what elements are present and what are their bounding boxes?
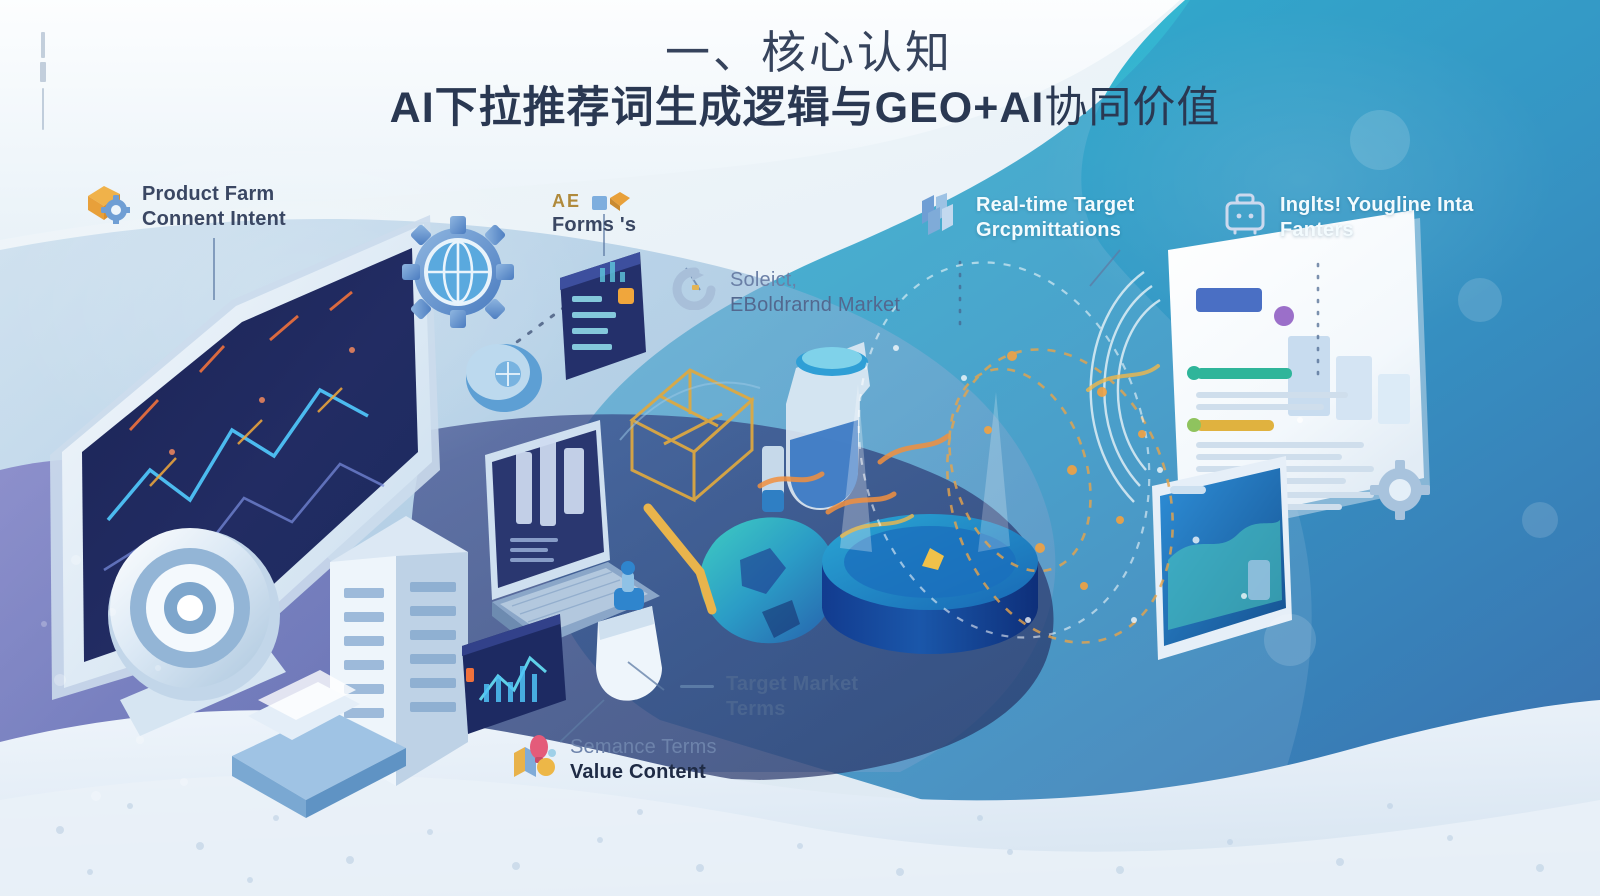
annotation-semance-value-text: Semance Terms Value Content: [570, 735, 717, 785]
annotation-product-farm-text: Product Farm Connent Intent: [142, 182, 286, 232]
annotation-target-market: Target Market Terms: [680, 672, 858, 722]
annotation-insights-text: Inglts! Yougline Inta Fanters: [1280, 193, 1473, 243]
label-line-2: Forms 's: [552, 213, 636, 238]
dash-connector: [680, 685, 714, 688]
label-line-1: Semance Terms: [570, 735, 717, 760]
briefcase-icon: [1222, 191, 1268, 235]
label-line-1: Target Market: [726, 672, 858, 697]
ribbon-flag-icon: [918, 191, 964, 235]
blocks-icon: [592, 190, 632, 212]
annotation-product-farm: Product Farm Connent Intent: [84, 182, 286, 232]
label-line-2: EBoldrarnd Market: [730, 293, 900, 318]
annotation-select-market: Soleict, EBoldrarnd Market: [672, 268, 900, 318]
annotation-insights: Inglts! Yougline Inta Fanters: [1222, 193, 1473, 243]
annotation-target-market-text: Target Market Terms: [726, 672, 858, 722]
particles-and-effects: [0, 0, 1600, 896]
annotation-select-market-text: Soleict, EBoldrarnd Market: [730, 268, 900, 318]
bulb-shapes-icon: [512, 733, 558, 777]
annotation-semance-value: Semance Terms Value Content: [512, 735, 717, 785]
label-line-1: Inglts! Yougline Inta: [1280, 193, 1473, 218]
annotation-realtime-target: Real-time Target Grcpmittations: [918, 193, 1134, 243]
label-line-2: Connent Intent: [142, 207, 286, 232]
annotation-forms: AE Forms 's: [552, 190, 636, 238]
label-line-1: Real-time Target: [976, 193, 1134, 218]
label-line-2: Grcpmittations: [976, 218, 1134, 243]
cube-gear-icon: [84, 180, 130, 224]
edge-decoration-mark: [38, 32, 48, 130]
refresh-circle-icon: [672, 266, 718, 310]
label-line-1: Product Farm: [142, 182, 286, 207]
annotation-realtime-target-text: Real-time Target Grcpmittations: [976, 193, 1134, 243]
label-line-2: Terms: [726, 697, 858, 722]
slide-canvas: 一、核心认知 AI下拉推荐词生成逻辑与GEO+AI协同价值 Product Fa…: [0, 0, 1600, 896]
label-line-1: Soleict,: [730, 268, 900, 293]
label-line-2: Value Content: [570, 760, 717, 785]
label-line-2: Fanters: [1280, 218, 1473, 243]
